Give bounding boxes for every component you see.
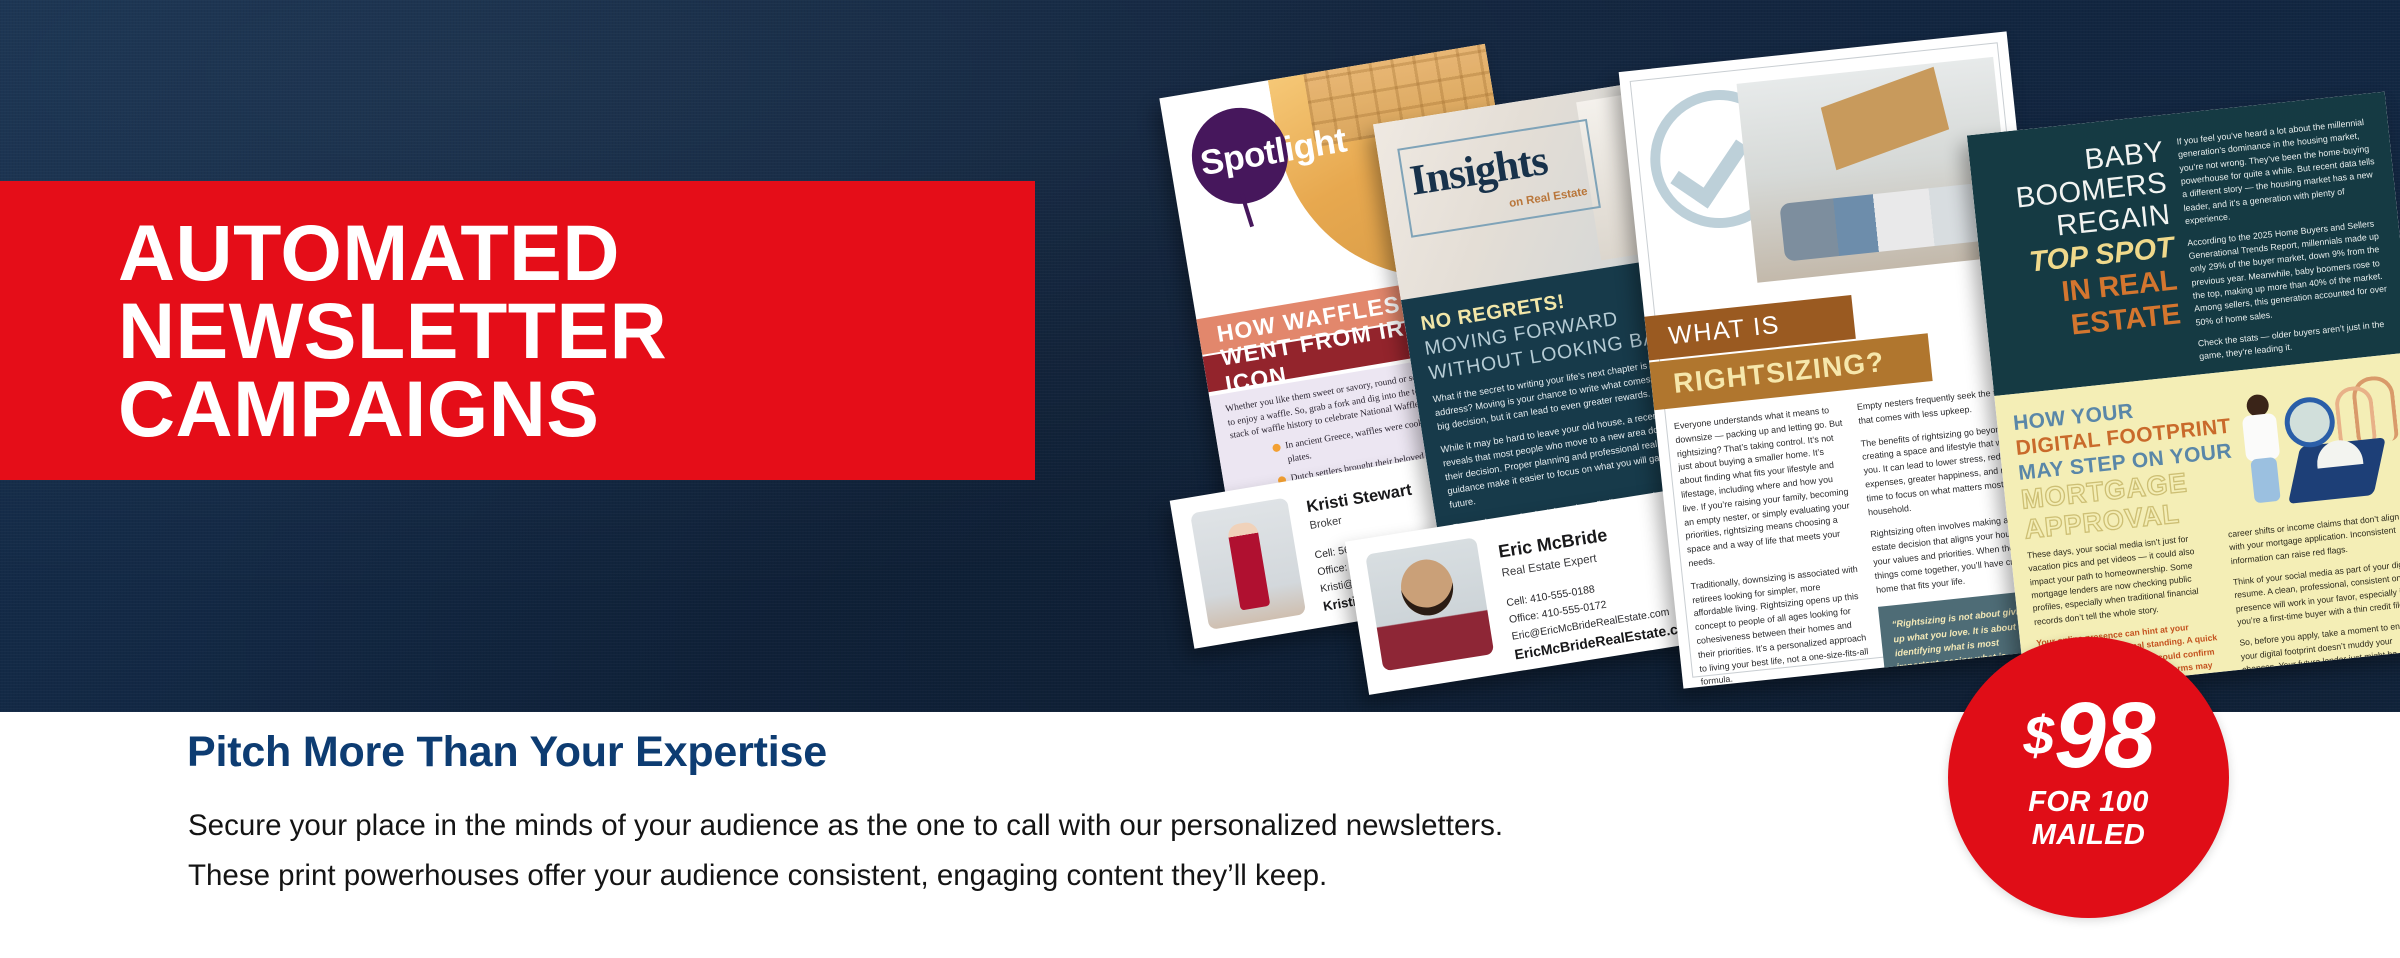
person-torso: [2242, 413, 2281, 462]
boomers-body: If you feel you’ve heard a lot about the…: [2176, 115, 2394, 352]
footprint-col-right: career shifts or income claims that don’…: [2227, 509, 2400, 693]
price-subtext: FOR 100 MAILED: [2028, 786, 2148, 853]
paragraph: Everyone understands what it means to do…: [1673, 403, 1858, 572]
agent-name: Kristi Stewart: [1305, 481, 1413, 517]
boomers-article: BABY BOOMERS REGAIN TOP SPOT IN REAL EST…: [1967, 92, 2400, 396]
boomers-headline: BABY BOOMERS REGAIN TOP SPOT IN REAL EST…: [1985, 137, 2185, 372]
fingerprint-scan-illustration: [2229, 370, 2400, 517]
paragraph: According to the 2025 Home Buyers and Se…: [2187, 216, 2392, 329]
price-currency: $: [2023, 708, 2052, 763]
rightsizing-columns: Everyone understands what it means to do…: [1673, 383, 2052, 673]
footer-title: Pitch More Than Your Expertise: [187, 728, 827, 777]
rightsizing-col-left: Everyone understands what it means to do…: [1673, 403, 1869, 673]
avatar: [1365, 537, 1494, 671]
headline-line-2: NEWSLETTER: [118, 292, 1018, 370]
price-subtext-line-1: FOR 100: [2028, 786, 2148, 820]
newsletter-spread[interactable]: BABY BOOMERS REGAIN TOP SPOT IN REAL EST…: [1967, 92, 2400, 693]
price-subtext-line-2: MAILED: [2028, 819, 2148, 853]
price-badge[interactable]: $98 FOR 100 MAILED: [1948, 637, 2229, 918]
page-title: AUTOMATED NEWSLETTER CAMPAIGNS: [118, 214, 1018, 447]
newsletter-collage: Spotlight HOW WAFFLES WENT FROM IRON TO …: [1150, 20, 2400, 720]
agent-title: Broker: [1309, 515, 1343, 532]
price-value: 98: [2054, 696, 2153, 776]
footer-copy: Secure your place in the minds of your a…: [188, 801, 1503, 901]
person-legs: [2250, 457, 2280, 503]
paragraph: Think of your social media as part of yo…: [2232, 556, 2400, 629]
paragraph: career shifts or income claims that don’…: [2227, 509, 2400, 568]
footer-line-1: Secure your place in the minds of your a…: [188, 801, 1503, 851]
headline-line-1: AUTOMATED: [118, 214, 1018, 292]
magnifier-icon: [2282, 395, 2337, 450]
footer-line-2: These print powerhouses offer your audie…: [188, 851, 1503, 901]
headline-line-3: CAMPAIGNS: [118, 370, 1018, 448]
paragraph: So, before you apply, take a moment to e…: [2239, 617, 2400, 690]
price-amount: $98: [2023, 696, 2153, 776]
promo-banner: AUTOMATED NEWSLETTER CAMPAIGNS Spotlight…: [0, 0, 2400, 958]
paragraph: Traditionally, downsizing is associated …: [1690, 562, 1871, 688]
person-illustration: [2236, 392, 2289, 504]
avatar: [1190, 497, 1306, 630]
paragraph: If you feel you’ve heard a lot about the…: [2176, 115, 2381, 228]
paragraph: These days, your social media isn’t just…: [2026, 530, 2221, 629]
footprint-headline: HOW YOUR DIGITAL FOOTPRINT MAY STEP ON Y…: [2012, 389, 2249, 545]
